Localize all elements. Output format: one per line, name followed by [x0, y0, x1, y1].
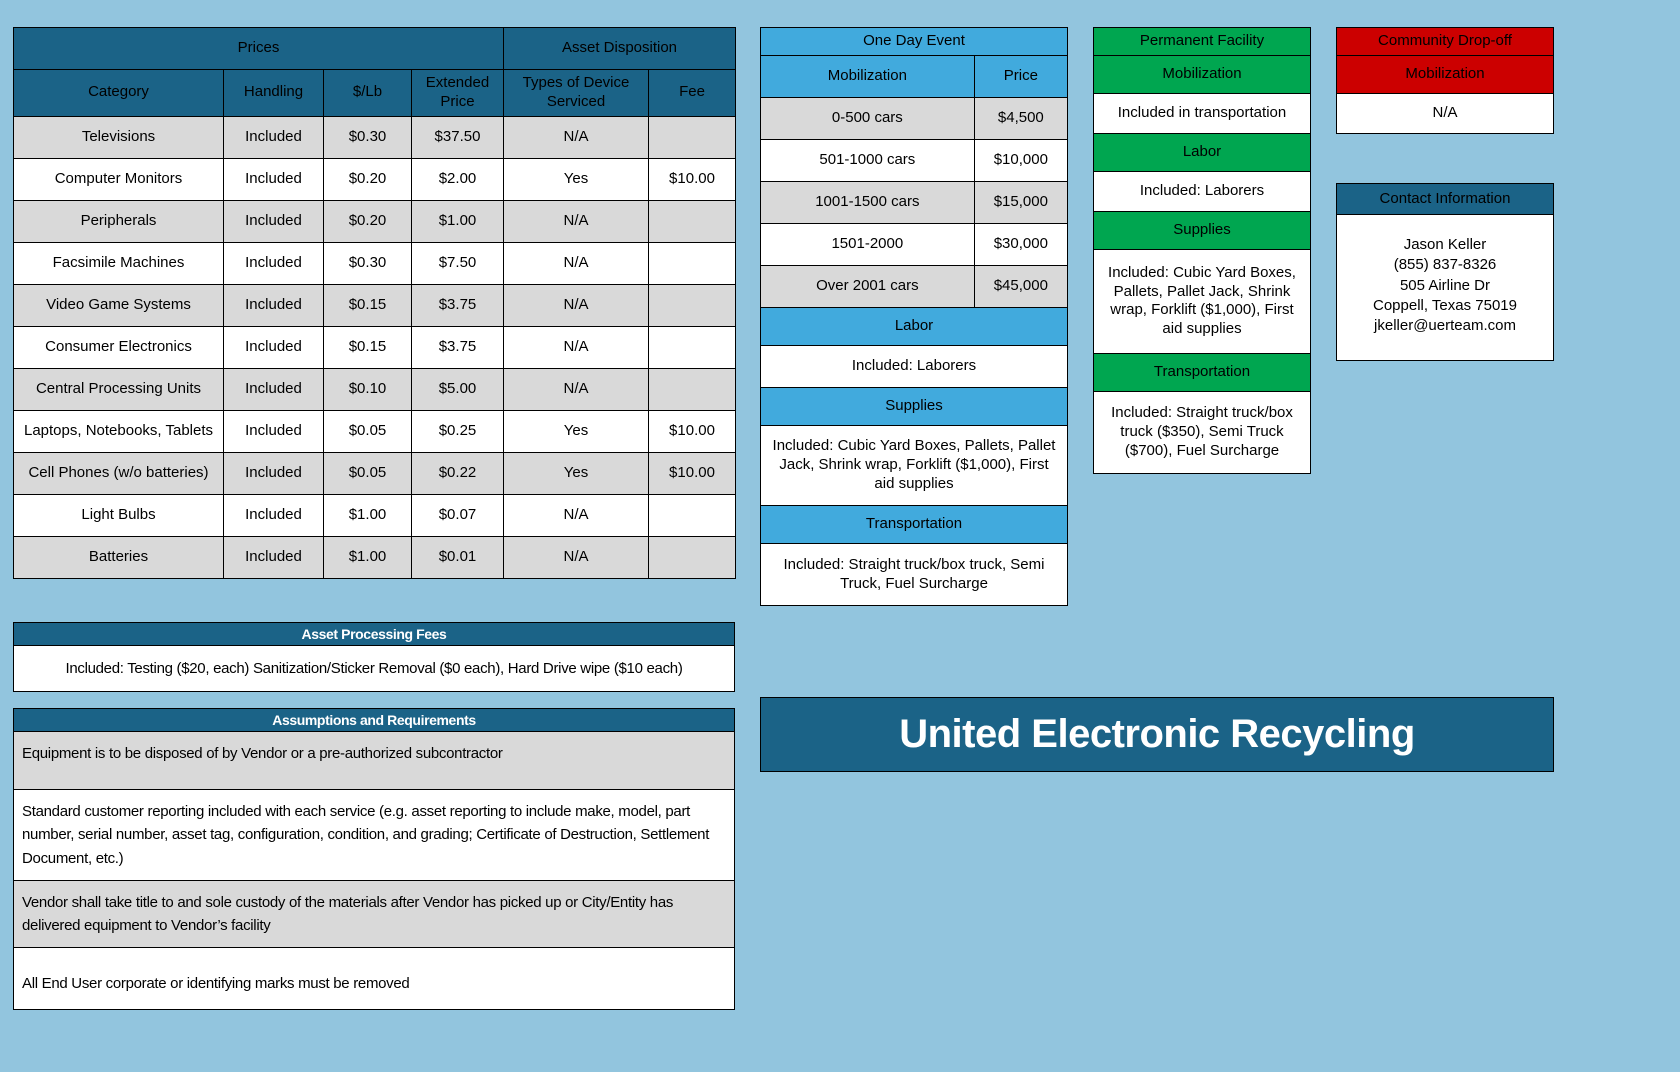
cell-price: $15,000 [974, 182, 1067, 224]
community-dropoff-title: Community Drop-off [1337, 28, 1554, 56]
section-body-row: Included: Cubic Yard Boxes, Pallets, Pal… [1094, 249, 1311, 353]
section-body-mobilization: N/A [1337, 93, 1554, 133]
cell-fee [649, 242, 736, 284]
cell-price: $10,000 [974, 140, 1067, 182]
cell-fee [649, 284, 736, 326]
list-item: Equipment is to be disposed of by Vendor… [13, 732, 735, 790]
table-row: 1501-2000$30,000 [761, 224, 1068, 266]
table-row: BatteriesIncluded$1.00$0.01N/A [14, 536, 736, 578]
cell-types: Yes [504, 158, 649, 200]
cell-category: Batteries [14, 536, 224, 578]
permanent-facility-title-row: Permanent Facility [1094, 28, 1311, 56]
section-body-supplies: Included: Cubic Yard Boxes, Pallets, Pal… [1094, 249, 1311, 353]
cell-mobilization: 1501-2000 [761, 224, 975, 266]
cell-fee: $10.00 [649, 452, 736, 494]
assumptions-and-requirements-panel: Assumptions and Requirements Equipment i… [13, 708, 735, 1010]
cell-extended-price: $3.75 [412, 326, 504, 368]
section-header-row: Supplies [761, 388, 1068, 426]
cell-types: N/A [504, 494, 649, 536]
section-body-transportation: Included: Straight truck/box truck, Semi… [761, 544, 1068, 606]
cell-handling: Included [224, 326, 324, 368]
list-item: Vendor shall take title to and sole cust… [13, 881, 735, 949]
section-body-row: N/A [1337, 93, 1554, 133]
cell-mobilization: 0-500 cars [761, 98, 975, 140]
prices-table-panel: Prices Asset Disposition Category Handli… [13, 27, 735, 579]
cell-types: N/A [504, 536, 649, 578]
cell-extended-price: $2.00 [412, 158, 504, 200]
cell-price: $45,000 [974, 266, 1067, 308]
section-body-mobilization: Included in transportation [1094, 93, 1311, 133]
section-header-row: Supplies [1094, 211, 1311, 249]
section-header-supplies: Supplies [1094, 211, 1311, 249]
prices-group-title: Prices [14, 28, 504, 70]
cell-category: Laptops, Notebooks, Tablets [14, 410, 224, 452]
table-row: Over 2001 cars$45,000 [761, 266, 1068, 308]
section-header-row: Mobilization [1337, 55, 1554, 93]
prices-table: Prices Asset Disposition Category Handli… [13, 27, 736, 579]
cell-handling: Included [224, 452, 324, 494]
cell-price: $4,500 [974, 98, 1067, 140]
cell-fee [649, 368, 736, 410]
section-body-row: Included in transportation [1094, 93, 1311, 133]
cell-per-lb: $0.30 [324, 116, 412, 158]
asset-processing-fees-body: Included: Testing ($20, each) Sanitizati… [13, 646, 735, 692]
asset-processing-fees-panel: Asset Processing Fees Included: Testing … [13, 622, 735, 692]
contact-address-line2: Coppell, Texas 75019 [1343, 296, 1547, 316]
table-row: Facsimile MachinesIncluded$0.30$7.50N/A [14, 242, 736, 284]
table-row: Laptops, Notebooks, TabletsIncluded$0.05… [14, 410, 736, 452]
section-body-row: Included: Laborers [1094, 171, 1311, 211]
table-row: Central Processing UnitsIncluded$0.10$5.… [14, 368, 736, 410]
brand-name: United Electronic Recycling [899, 712, 1415, 757]
cell-per-lb: $0.30 [324, 242, 412, 284]
prices-column-header-row: Category Handling $/Lb Extended Price Ty… [14, 70, 736, 117]
asset-disposition-group-title: Asset Disposition [504, 28, 736, 70]
cell-per-lb: $0.15 [324, 326, 412, 368]
table-row: Cell Phones (w/o batteries)Included$0.05… [14, 452, 736, 494]
contact-address-line1: 505 Airline Dr [1343, 276, 1547, 296]
column-header-category: Category [14, 70, 224, 117]
cell-fee [649, 200, 736, 242]
cell-handling: Included [224, 116, 324, 158]
contact-information-header-table: Contact Information [1336, 183, 1554, 215]
cell-category: Consumer Electronics [14, 326, 224, 368]
cell-types: Yes [504, 410, 649, 452]
one-day-event-panel: One Day Event Mobilization Price 0-500 c… [760, 27, 1068, 606]
one-day-event-column-header-row: Mobilization Price [761, 56, 1068, 98]
cell-types: N/A [504, 200, 649, 242]
column-header-fee: Fee [649, 70, 736, 117]
cell-fee: $10.00 [649, 158, 736, 200]
permanent-facility-table: Permanent Facility Mobilization Included… [1093, 27, 1311, 474]
cell-fee: $10.00 [649, 410, 736, 452]
permanent-facility-panel: Permanent Facility Mobilization Included… [1093, 27, 1311, 474]
cell-fee [649, 116, 736, 158]
cell-category: Computer Monitors [14, 158, 224, 200]
section-header-row: Labor [1094, 133, 1311, 171]
list-item: Standard customer reporting included wit… [13, 790, 735, 881]
cell-types: N/A [504, 242, 649, 284]
permanent-facility-title: Permanent Facility [1094, 28, 1311, 56]
cell-category: Peripherals [14, 200, 224, 242]
table-row: 501-1000 cars$10,000 [761, 140, 1068, 182]
cell-per-lb: $0.20 [324, 158, 412, 200]
cell-extended-price: $0.25 [412, 410, 504, 452]
cell-extended-price: $0.01 [412, 536, 504, 578]
prices-group-header-row: Prices Asset Disposition [14, 28, 736, 70]
column-header-price: Price [974, 56, 1067, 98]
cell-per-lb: $0.10 [324, 368, 412, 410]
cell-handling: Included [224, 158, 324, 200]
list-item: All End User corporate or identifying ma… [13, 948, 735, 1010]
contact-information-title-row: Contact Information [1337, 184, 1554, 215]
cell-category: Light Bulbs [14, 494, 224, 536]
community-dropoff-panel: Community Drop-off Mobilization N/A [1336, 27, 1554, 134]
table-row: TelevisionsIncluded$0.30$37.50N/A [14, 116, 736, 158]
section-body-row: Included: Laborers [761, 346, 1068, 388]
table-row: Consumer ElectronicsIncluded$0.15$3.75N/… [14, 326, 736, 368]
table-row: 1001-1500 cars$15,000 [761, 182, 1068, 224]
table-row: PeripheralsIncluded$0.20$1.00N/A [14, 200, 736, 242]
cell-extended-price: $0.22 [412, 452, 504, 494]
contact-phone[interactable]: (855) 837-8326 [1343, 255, 1547, 275]
cell-per-lb: $1.00 [324, 494, 412, 536]
cell-extended-price: $0.07 [412, 494, 504, 536]
contact-name: Jason Keller [1343, 235, 1547, 255]
cell-per-lb: $1.00 [324, 536, 412, 578]
section-header-row: Transportation [761, 506, 1068, 544]
section-body-row: Included: Straight truck/box truck, Semi… [761, 544, 1068, 606]
cell-types: N/A [504, 284, 649, 326]
cell-handling: Included [224, 410, 324, 452]
cell-category: Video Game Systems [14, 284, 224, 326]
section-header-row: Mobilization [1094, 55, 1311, 93]
section-header-labor: Labor [761, 308, 1068, 346]
column-header-mobilization: Mobilization [761, 56, 975, 98]
section-body-labor: Included: Laborers [1094, 171, 1311, 211]
cell-category: Facsimile Machines [14, 242, 224, 284]
cell-fee [649, 326, 736, 368]
cell-extended-price: $5.00 [412, 368, 504, 410]
section-header-transportation: Transportation [1094, 353, 1311, 391]
cell-types: N/A [504, 116, 649, 158]
section-header-transportation: Transportation [761, 506, 1068, 544]
cell-handling: Included [224, 284, 324, 326]
assumptions-title: Assumptions and Requirements [13, 708, 735, 732]
one-day-event-title: One Day Event [761, 28, 1068, 56]
cell-mobilization: 1001-1500 cars [761, 182, 975, 224]
cell-handling: Included [224, 494, 324, 536]
cell-category: Televisions [14, 116, 224, 158]
cell-extended-price: $7.50 [412, 242, 504, 284]
one-day-event-table: One Day Event Mobilization Price 0-500 c… [760, 27, 1068, 606]
section-header-supplies: Supplies [761, 388, 1068, 426]
cell-mobilization: 501-1000 cars [761, 140, 975, 182]
section-body-labor: Included: Laborers [761, 346, 1068, 388]
section-header-row: Labor [761, 308, 1068, 346]
section-header-row: Transportation [1094, 353, 1311, 391]
column-header-per-lb: $/Lb [324, 70, 412, 117]
contact-information-panel: Contact Information Jason Keller (855) 8… [1336, 183, 1554, 361]
cell-per-lb: $0.05 [324, 452, 412, 494]
section-header-mobilization: Mobilization [1094, 55, 1311, 93]
asset-processing-fees-title: Asset Processing Fees [13, 622, 735, 646]
cell-per-lb: $0.05 [324, 410, 412, 452]
contact-email[interactable]: jkeller@uerteam.com [1343, 316, 1547, 336]
section-body-row: Included: Cubic Yard Boxes, Pallets, Pal… [761, 426, 1068, 506]
column-header-extended-price: Extended Price [412, 70, 504, 117]
contact-information-body: Jason Keller (855) 837-8326 505 Airline … [1336, 215, 1554, 361]
contact-information-title: Contact Information [1337, 184, 1554, 215]
cell-mobilization: Over 2001 cars [761, 266, 975, 308]
brand-banner: United Electronic Recycling [760, 697, 1554, 772]
section-header-mobilization: Mobilization [1337, 55, 1554, 93]
cell-price: $30,000 [974, 224, 1067, 266]
cell-fee [649, 494, 736, 536]
cell-handling: Included [224, 242, 324, 284]
table-row: Computer MonitorsIncluded$0.20$2.00Yes$1… [14, 158, 736, 200]
section-body-transportation: Included: Straight truck/box truck ($350… [1094, 391, 1311, 473]
one-day-event-title-row: One Day Event [761, 28, 1068, 56]
section-body-row: Included: Straight truck/box truck ($350… [1094, 391, 1311, 473]
cell-per-lb: $0.20 [324, 200, 412, 242]
table-row: Light BulbsIncluded$1.00$0.07N/A [14, 494, 736, 536]
column-header-types-of-device-serviced: Types of Device Serviced [504, 70, 649, 117]
cell-extended-price: $37.50 [412, 116, 504, 158]
cell-types: Yes [504, 452, 649, 494]
column-header-handling: Handling [224, 70, 324, 117]
community-dropoff-title-row: Community Drop-off [1337, 28, 1554, 56]
table-row: Video Game SystemsIncluded$0.15$3.75N/A [14, 284, 736, 326]
cell-per-lb: $0.15 [324, 284, 412, 326]
cell-handling: Included [224, 536, 324, 578]
cell-extended-price: $1.00 [412, 200, 504, 242]
cell-category: Cell Phones (w/o batteries) [14, 452, 224, 494]
table-row: 0-500 cars$4,500 [761, 98, 1068, 140]
section-header-labor: Labor [1094, 133, 1311, 171]
cell-types: N/A [504, 368, 649, 410]
cell-fee [649, 536, 736, 578]
cell-types: N/A [504, 326, 649, 368]
section-body-supplies: Included: Cubic Yard Boxes, Pallets, Pal… [761, 426, 1068, 506]
cell-extended-price: $3.75 [412, 284, 504, 326]
cell-handling: Included [224, 368, 324, 410]
community-dropoff-table: Community Drop-off Mobilization N/A [1336, 27, 1554, 134]
cell-category: Central Processing Units [14, 368, 224, 410]
cell-handling: Included [224, 200, 324, 242]
